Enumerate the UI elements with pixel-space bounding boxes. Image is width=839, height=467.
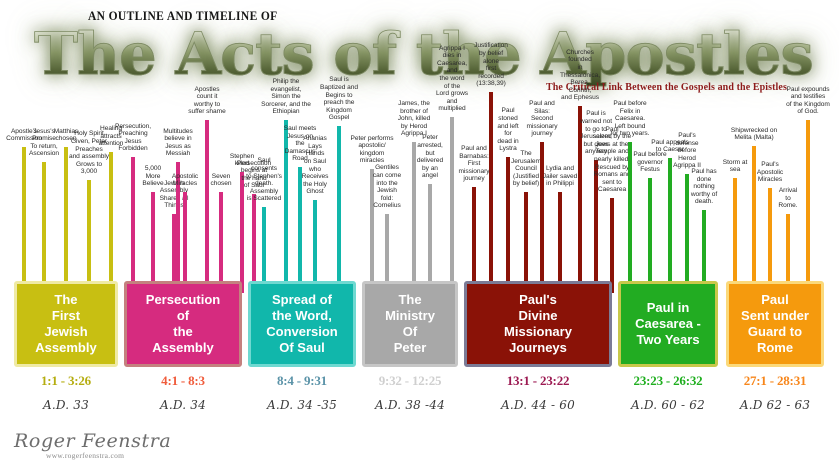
event-bar: [42, 162, 46, 293]
event-bar: [87, 180, 91, 293]
section-title: PersecutionoftheAssembly: [142, 292, 224, 356]
event-bar: [109, 152, 113, 293]
event-label: ChurchesfoundedinThessalonica,Berea,Cori…: [552, 49, 608, 102]
section-box-5[interactable]: Paul'sDivineMissionaryJourneys: [464, 281, 612, 367]
scripture-reference: 9:32 - 12:25: [362, 373, 458, 389]
section-title: Paul inCaesarea -Two Years: [631, 300, 705, 348]
scripture-reference: 23:23 - 26:32: [618, 373, 718, 389]
author-signature: Roger Feenstra: [14, 430, 171, 452]
event-bar: [733, 178, 737, 293]
event-label: Justificationby beliefalonefirstrecorded…: [463, 42, 519, 88]
section-date: A.D. 34 -35: [248, 398, 356, 412]
section-date: A.D. 33: [14, 398, 118, 412]
event-label: Apostlescount itworthy tosuffer shame: [179, 86, 235, 116]
section-date: A.D 62 - 63: [726, 398, 824, 412]
section-box-7[interactable]: PaulSent underGuard toRome: [726, 281, 824, 367]
scripture-reference: 27:1 - 28:31: [726, 373, 824, 389]
section-box-4[interactable]: TheMinistryOfPeter: [362, 281, 458, 367]
event-bar: [428, 184, 432, 293]
section-title: Spread ofthe Word,ConversionOf Saul: [262, 292, 342, 356]
event-bar: [524, 192, 528, 293]
section-box-6[interactable]: Paul inCaesarea -Two Years: [618, 281, 718, 367]
section-date: A.D. 38 -44: [362, 398, 458, 412]
section-date: A.D. 34: [124, 398, 242, 412]
scripture-reference: 13:1 - 23:22: [464, 373, 612, 389]
event-bar: [558, 192, 562, 293]
section-title: TheFirstJewishAssembly: [31, 292, 100, 356]
event-bar: [450, 117, 454, 293]
event-label: Peter performsapostolic/kingdommiracles: [344, 135, 400, 165]
event-bar: [313, 200, 317, 293]
event-bar: [252, 194, 256, 293]
section-title: TheMinistryOfPeter: [381, 292, 439, 356]
event-label: Paul'sApostolicMiracles: [742, 161, 798, 184]
event-label: Paul andSilas:Secondmissionaryjourney: [514, 100, 570, 138]
event-label: Saul isBaptized andBegins topreach theKi…: [311, 76, 367, 122]
event-label: Multitudesbelieve inJesus asMessiah: [150, 128, 206, 158]
scripture-reference: 4:1 - 8:3: [124, 373, 242, 389]
event-bar: [205, 120, 209, 293]
scripture-reference: 8:4 - 9:31: [248, 373, 356, 389]
event-bar: [806, 120, 810, 293]
section-title: Paul'sDivineMissionaryJourneys: [500, 292, 576, 356]
section-title: PaulSent underGuard toRome: [737, 292, 813, 356]
scripture-reference: 1:1 - 3:26: [14, 373, 118, 389]
event-bar: [610, 198, 614, 293]
author-url: www.rogerfeenstra.com: [46, 451, 124, 460]
event-label: Shipwrecked onMelita (Malta): [726, 127, 782, 142]
event-label: Philip theevangelist,Simon theSorcerer, …: [258, 78, 314, 116]
event-label: Paul expoundsand testifiesof the Kingdom…: [780, 86, 836, 116]
event-bar: [183, 192, 187, 293]
event-label: Paul beforeFelix inCaesarea.Left boundfo…: [602, 100, 658, 138]
section-date: A.D. 60 - 62: [618, 398, 718, 412]
section-box-3[interactable]: Spread ofthe Word,ConversionOf Saul: [248, 281, 356, 367]
section-box-2[interactable]: PersecutionoftheAssembly: [124, 281, 242, 367]
section-box-1[interactable]: TheFirstJewishAssembly: [14, 281, 118, 367]
event-bar: [337, 126, 341, 293]
event-bar: [22, 147, 26, 293]
event-bar: [668, 158, 672, 293]
infographic-canvas: AN OUTLINE AND TIMELINE OF The Acts of t…: [0, 0, 839, 467]
event-label: AnaniasLaysHandson SaulwhoReceivesthe Ho…: [287, 135, 343, 196]
event-bar: [219, 192, 223, 293]
event-bar: [472, 187, 476, 293]
event-bar: [648, 178, 652, 293]
section-date: A.D. 44 - 60: [464, 398, 612, 412]
